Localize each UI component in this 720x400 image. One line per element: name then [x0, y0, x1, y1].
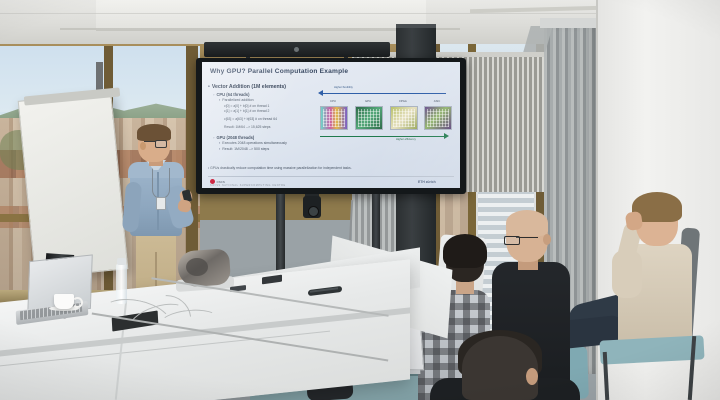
bullet-dot-icon: • [208, 166, 209, 170]
bullet-dot-icon: • [208, 84, 210, 91]
asic-chip-icon [424, 106, 452, 130]
slide-bullet-text: CPU (64 threads) [216, 92, 249, 97]
efficiency-arrow-head-icon [444, 133, 449, 139]
slide-bullet-text: Parallelized addition [222, 98, 253, 102]
slide-code-text: c[1] = a[1] + b[1] # on thread 2 [224, 109, 269, 113]
slide-bullet-text: Result: 1M/2048 --> 500 steps [222, 147, 269, 151]
slide-bullet-list: •Vector Addition (1M elements) ◦CPU (64 … [208, 84, 314, 152]
bullet-dot-icon: ▪ [219, 98, 220, 102]
attendee-hand [625, 211, 643, 231]
glasses-icon [504, 236, 520, 245]
presenter-lanyard [152, 168, 170, 199]
attendee-scalp [506, 210, 548, 236]
camera-lens-icon [308, 206, 319, 217]
slide-result-text: Result: 1M/64 --> 15,625 steps [224, 125, 270, 129]
cup-handle [72, 297, 83, 308]
curtain-rail [540, 18, 600, 28]
presentation-room-photo: Why GPU? Parallel Computation Example •V… [0, 0, 720, 400]
slide-code-line: c[1] = a[1] + b[1] # on thread 2 [224, 109, 314, 113]
flexibility-arrow-label: Higher flexibility [334, 86, 353, 89]
stone-sculpture-detail [186, 258, 208, 276]
attendee-ear [526, 368, 538, 385]
efficiency-arrow-label: Higher efficiency [396, 138, 416, 141]
efficiency-arrow [320, 136, 446, 137]
slide-bullet: ▪Parallelized addition [219, 98, 314, 102]
bullet-dot-icon: ▪ [219, 147, 220, 151]
slide-divider [208, 176, 454, 177]
attendee-ear [543, 234, 551, 245]
fpga-chip-icon [390, 106, 418, 130]
flexibility-arrow [320, 93, 446, 94]
presenter-hair [137, 124, 171, 141]
slide-title: Why GPU? Parallel Computation Example [210, 68, 450, 75]
slide-code-text: c[0] = a[0] + b[0] # on thread 1 [224, 104, 269, 108]
bottle-cap [117, 258, 126, 265]
attendee-hair [443, 234, 487, 268]
ceiling-panel [96, 0, 426, 31]
bullet-dot-icon: ▪ [219, 141, 220, 145]
presenter-badge [156, 197, 166, 210]
presenter-ear [140, 142, 146, 150]
slide-bullet-text: GPU (2048 threads) [216, 135, 254, 140]
slide-bullet-text: Vector Addition (1M elements) [212, 84, 286, 91]
cpu-chip-icon [320, 106, 348, 130]
slide-code-line: c[0] = a[0] + b[0] # on thread 1 [224, 104, 314, 108]
chip-label-cpu: CPU [320, 99, 346, 103]
slide-bullet-text: Executes 2048 operations simultaneously [222, 141, 287, 145]
slide-bullet: ◦GPU (2048 threads) [213, 135, 314, 140]
glasses-icon [155, 140, 167, 148]
chip-label-fpga: FPGA [390, 99, 416, 103]
slide-bullet: ▪Executes 2048 operations simultaneously [219, 141, 314, 145]
slide-code-line: c[63] = a[63] + b[63] # on thread 64 [224, 117, 314, 121]
slide-code-text: c[63] = a[63] + b[63] # on thread 64 [224, 117, 277, 121]
slide-bullet: ▪Result: 1M/2048 --> 500 steps [219, 147, 314, 151]
chip-label-gpu: GPU [355, 99, 381, 103]
slide-closing-text: GPUs drastically reduce computation time… [210, 166, 352, 170]
eth-logo: ETH zürich [418, 180, 436, 184]
cscs-logo-subtitle: SWISS NATIONAL SUPERCOMPUTING CENTRE [210, 184, 286, 187]
cscs-logo-text: CSCS [217, 180, 225, 184]
flexibility-arrow-head-icon [318, 90, 323, 96]
slide-closing-bullet: • GPUs drastically reduce computation ti… [208, 166, 438, 170]
chip-label-asic: ASIC [424, 99, 450, 103]
slide-bullet: ◦CPU (64 threads) [213, 92, 314, 97]
slide-bullet: •Vector Addition (1M elements) [208, 84, 314, 91]
flipchart-board [18, 92, 129, 278]
gpu-chip-icon [355, 106, 383, 130]
speaker-column-top [396, 24, 436, 28]
attendee-foreground [462, 336, 538, 400]
coffee-cup [54, 294, 74, 309]
bullet-dot-icon: ◦ [213, 92, 214, 97]
soundbar-indicator-icon [294, 47, 299, 52]
slide-result-line: Result: 1M/64 --> 15,625 steps [224, 125, 314, 129]
bullet-dot-icon: ◦ [213, 135, 214, 140]
